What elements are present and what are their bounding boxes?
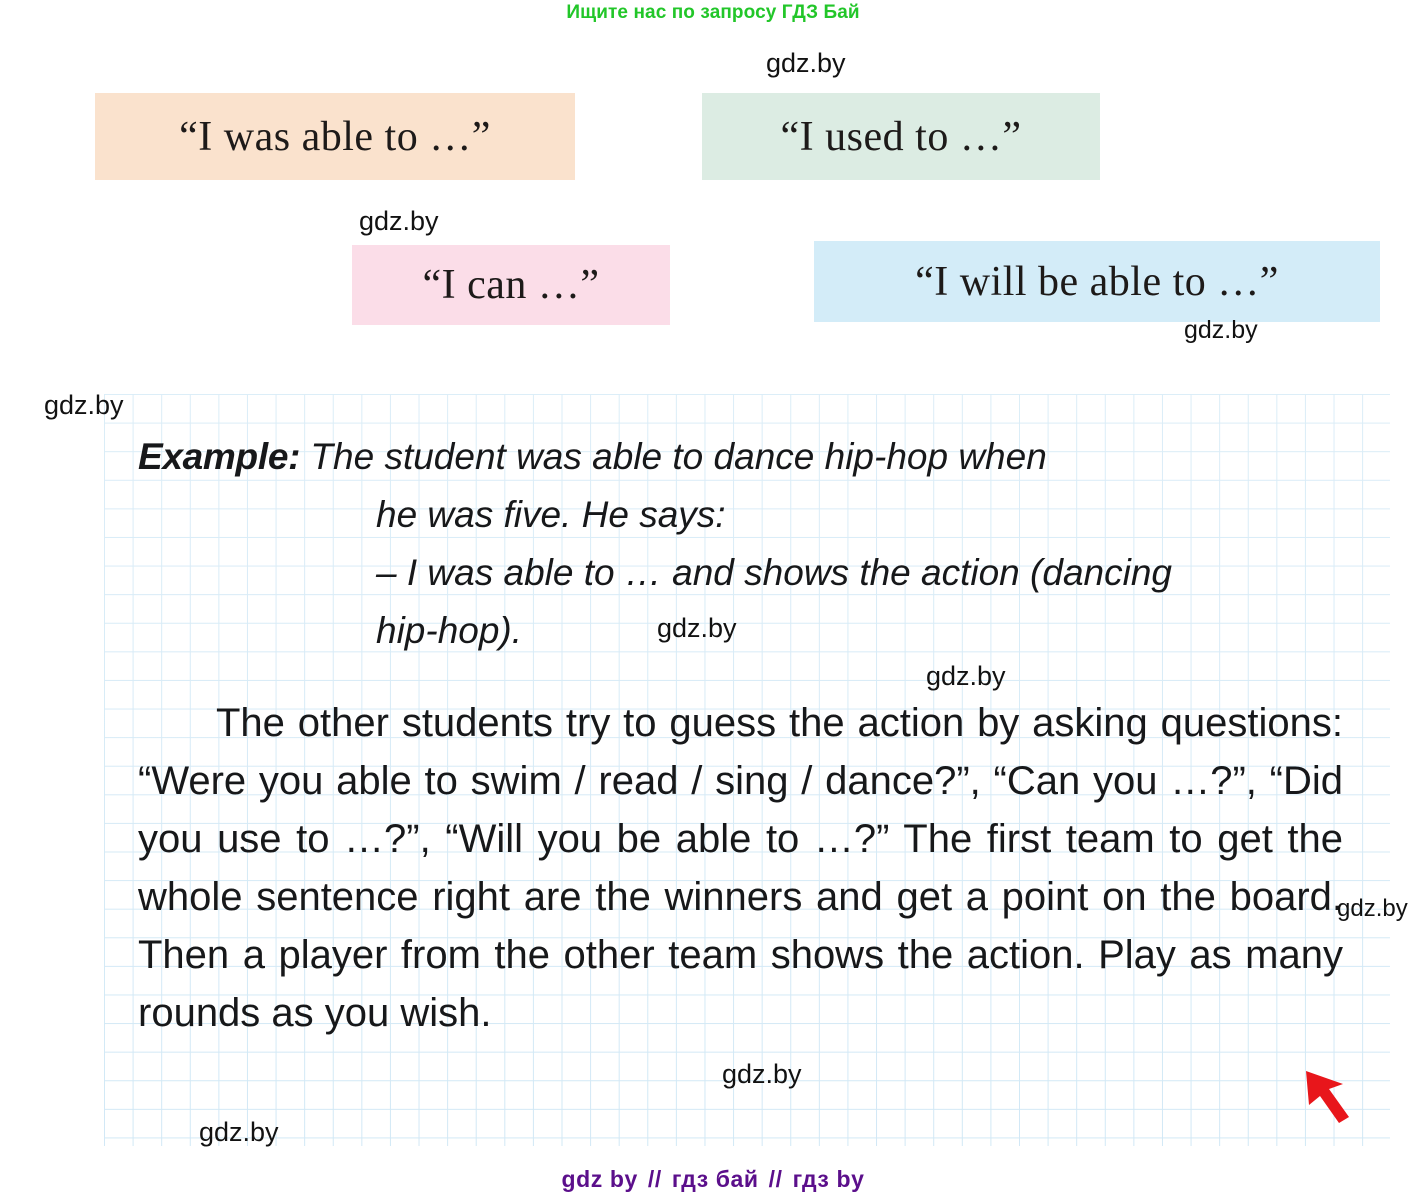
footer-separator-2: //	[759, 1166, 793, 1192]
watermark-gdz-by: gdz.by	[657, 613, 737, 644]
phrase-box-was-able-to: “I was able to …”	[95, 93, 575, 180]
watermark-gdz-by: gdz.by	[44, 390, 124, 421]
watermark-gdz-by: gdz.by	[359, 206, 439, 237]
phrase-box-used-to-label: “I used to …”	[781, 113, 1022, 161]
footer-separator-1: //	[638, 1166, 672, 1192]
red-arrow-cursor	[1303, 1065, 1363, 1127]
phrase-box-used-to: “I used to …”	[702, 93, 1100, 180]
watermark-gdz-by: gdz.by	[766, 48, 846, 79]
phrase-box-i-can-label: “I can …”	[422, 261, 599, 309]
phrase-box-will-be-able-to-label: “I will be able to …”	[915, 258, 1279, 306]
watermark-gdz-by: gdz.by	[1184, 316, 1258, 345]
footer-brand-line: gdz by//гдз бай//гдз by	[0, 1166, 1426, 1193]
example-line-1-text: The student was able to dance hip-hop wh…	[300, 436, 1047, 477]
footer-part-1: gdz by	[561, 1166, 637, 1192]
phrase-box-will-be-able-to: “I will be able to …”	[814, 241, 1380, 322]
watermark-gdz-by: gdz.by	[1337, 895, 1408, 923]
phrase-box-was-able-to-label: “I was able to …”	[179, 113, 491, 161]
watermark-gdz-by: gdz.by	[926, 661, 1006, 692]
example-line-1: Example: The student was able to dance h…	[138, 428, 1353, 486]
example-label: Example:	[138, 436, 300, 477]
footer-part-2: гдз бай	[672, 1166, 759, 1192]
example-line-4: hip-hop).	[376, 602, 1353, 660]
example-line-3: – I was able to … and shows the action (…	[376, 544, 1353, 602]
footer-part-3: гдз by	[793, 1166, 865, 1192]
main-paragraph: The other students try to guess the acti…	[138, 694, 1343, 1042]
watermark-gdz-by: gdz.by	[199, 1117, 279, 1148]
example-block: Example: The student was able to dance h…	[138, 428, 1353, 660]
phrase-box-i-can: “I can …”	[352, 245, 670, 325]
example-line-2: he was five. He says:	[376, 486, 1353, 544]
watermark-gdz-by: gdz.by	[722, 1059, 802, 1090]
promo-header-text: Ищите нас по запросу ГДЗ Бай	[0, 2, 1426, 24]
